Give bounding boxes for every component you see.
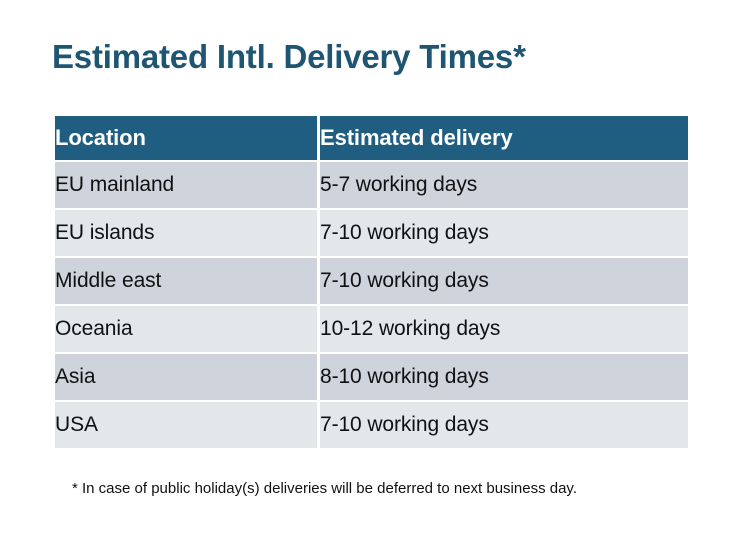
table-row: EU islands 7-10 working days xyxy=(55,210,688,256)
cell-delivery: 7-10 working days xyxy=(320,258,688,304)
cell-location: Oceania xyxy=(55,306,317,352)
cell-location: Middle east xyxy=(55,258,317,304)
table-body: EU mainland 5-7 working days EU islands … xyxy=(55,162,688,448)
delivery-times-page: Estimated Intl. Delivery Times* Location… xyxy=(0,0,745,536)
table-header-row: Location Estimated delivery xyxy=(55,116,688,160)
table-header: Location Estimated delivery xyxy=(55,116,688,160)
column-header-location: Location xyxy=(55,116,317,160)
table-row: Middle east 7-10 working days xyxy=(55,258,688,304)
column-header-estimated-delivery: Estimated delivery xyxy=(320,116,688,160)
cell-location: USA xyxy=(55,402,317,448)
estimated-delivery-times-table: Location Estimated delivery EU mainland … xyxy=(52,114,691,450)
table-row: USA 7-10 working days xyxy=(55,402,688,448)
cell-delivery: 8-10 working days xyxy=(320,354,688,400)
table-row: EU mainland 5-7 working days xyxy=(55,162,688,208)
table-row: Asia 8-10 working days xyxy=(55,354,688,400)
cell-delivery: 7-10 working days xyxy=(320,402,688,448)
footnote: * In case of public holiday(s) deliverie… xyxy=(72,479,577,499)
cell-location: Asia xyxy=(55,354,317,400)
table-row: Oceania 10-12 working days xyxy=(55,306,688,352)
cell-location: EU mainland xyxy=(55,162,317,208)
cell-delivery: 7-10 working days xyxy=(320,210,688,256)
cell-delivery: 5-7 working days xyxy=(320,162,688,208)
page-title: Estimated Intl. Delivery Times* xyxy=(52,36,526,78)
cell-delivery: 10-12 working days xyxy=(320,306,688,352)
cell-location: EU islands xyxy=(55,210,317,256)
